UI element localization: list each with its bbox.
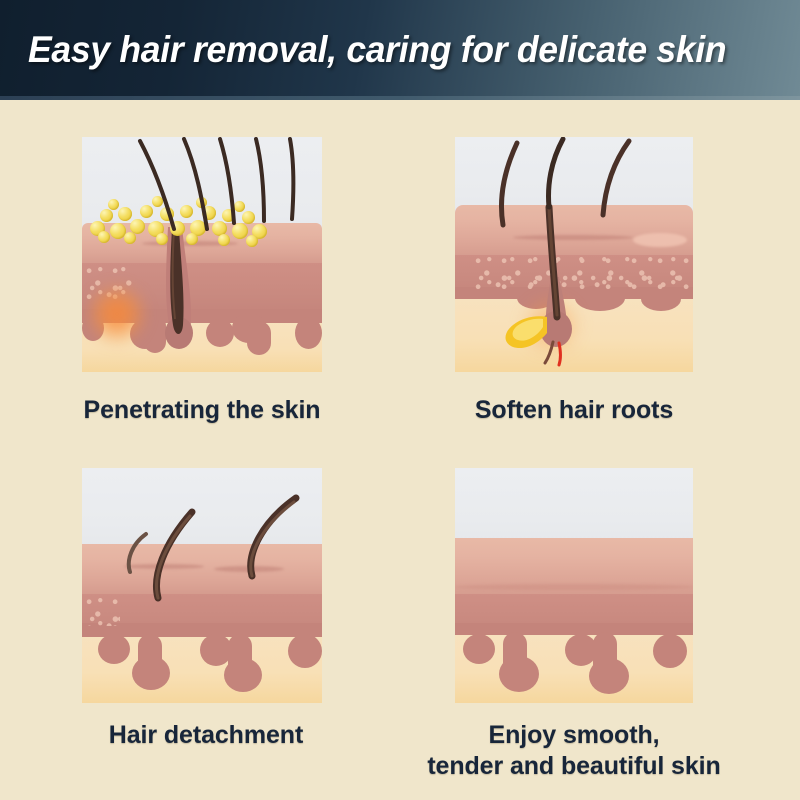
illustration-soften-hair-roots (455, 137, 693, 372)
illustration-smooth-skin (455, 468, 693, 703)
surface-hairs (455, 137, 693, 372)
panel-caption: Enjoy smooth, tender and beautiful skin (417, 720, 731, 782)
skin-crease (455, 584, 693, 590)
papilla-lobe (463, 634, 495, 664)
poster-root: Easy hair removal, caring for delicate s… (0, 0, 800, 800)
papilla-lobe (589, 658, 629, 694)
panel-caption: Penetrating the skin (82, 395, 322, 426)
panel-caption: Soften hair roots (455, 395, 693, 426)
panel-caption: Hair detachment (82, 720, 330, 751)
panel-penetrating-the-skin: Penetrating the skin (82, 137, 322, 437)
background-sky (455, 468, 693, 542)
papilla-lobe (499, 656, 539, 692)
panel-enjoy-smooth-skin: Enjoy smooth, tender and beautiful skin (455, 468, 693, 798)
panel-soften-hair-roots: Soften hair roots (455, 137, 693, 437)
illustration-hair-detachment (82, 468, 322, 703)
surface-hairs (82, 137, 322, 372)
illustration-penetrating-the-skin (82, 137, 322, 372)
dermis-papilla-bar (455, 623, 693, 635)
panel-hair-detachment: Hair detachment (82, 468, 322, 798)
panel-caption-line-1: Enjoy smooth, (417, 720, 731, 751)
detached-hairs (82, 468, 322, 703)
panel-caption-line-2: tender and beautiful skin (417, 751, 731, 782)
page-title: Easy hair removal, caring for delicate s… (28, 29, 726, 71)
papilla-lobe (653, 634, 687, 668)
header-banner: Easy hair removal, caring for delicate s… (0, 0, 800, 100)
